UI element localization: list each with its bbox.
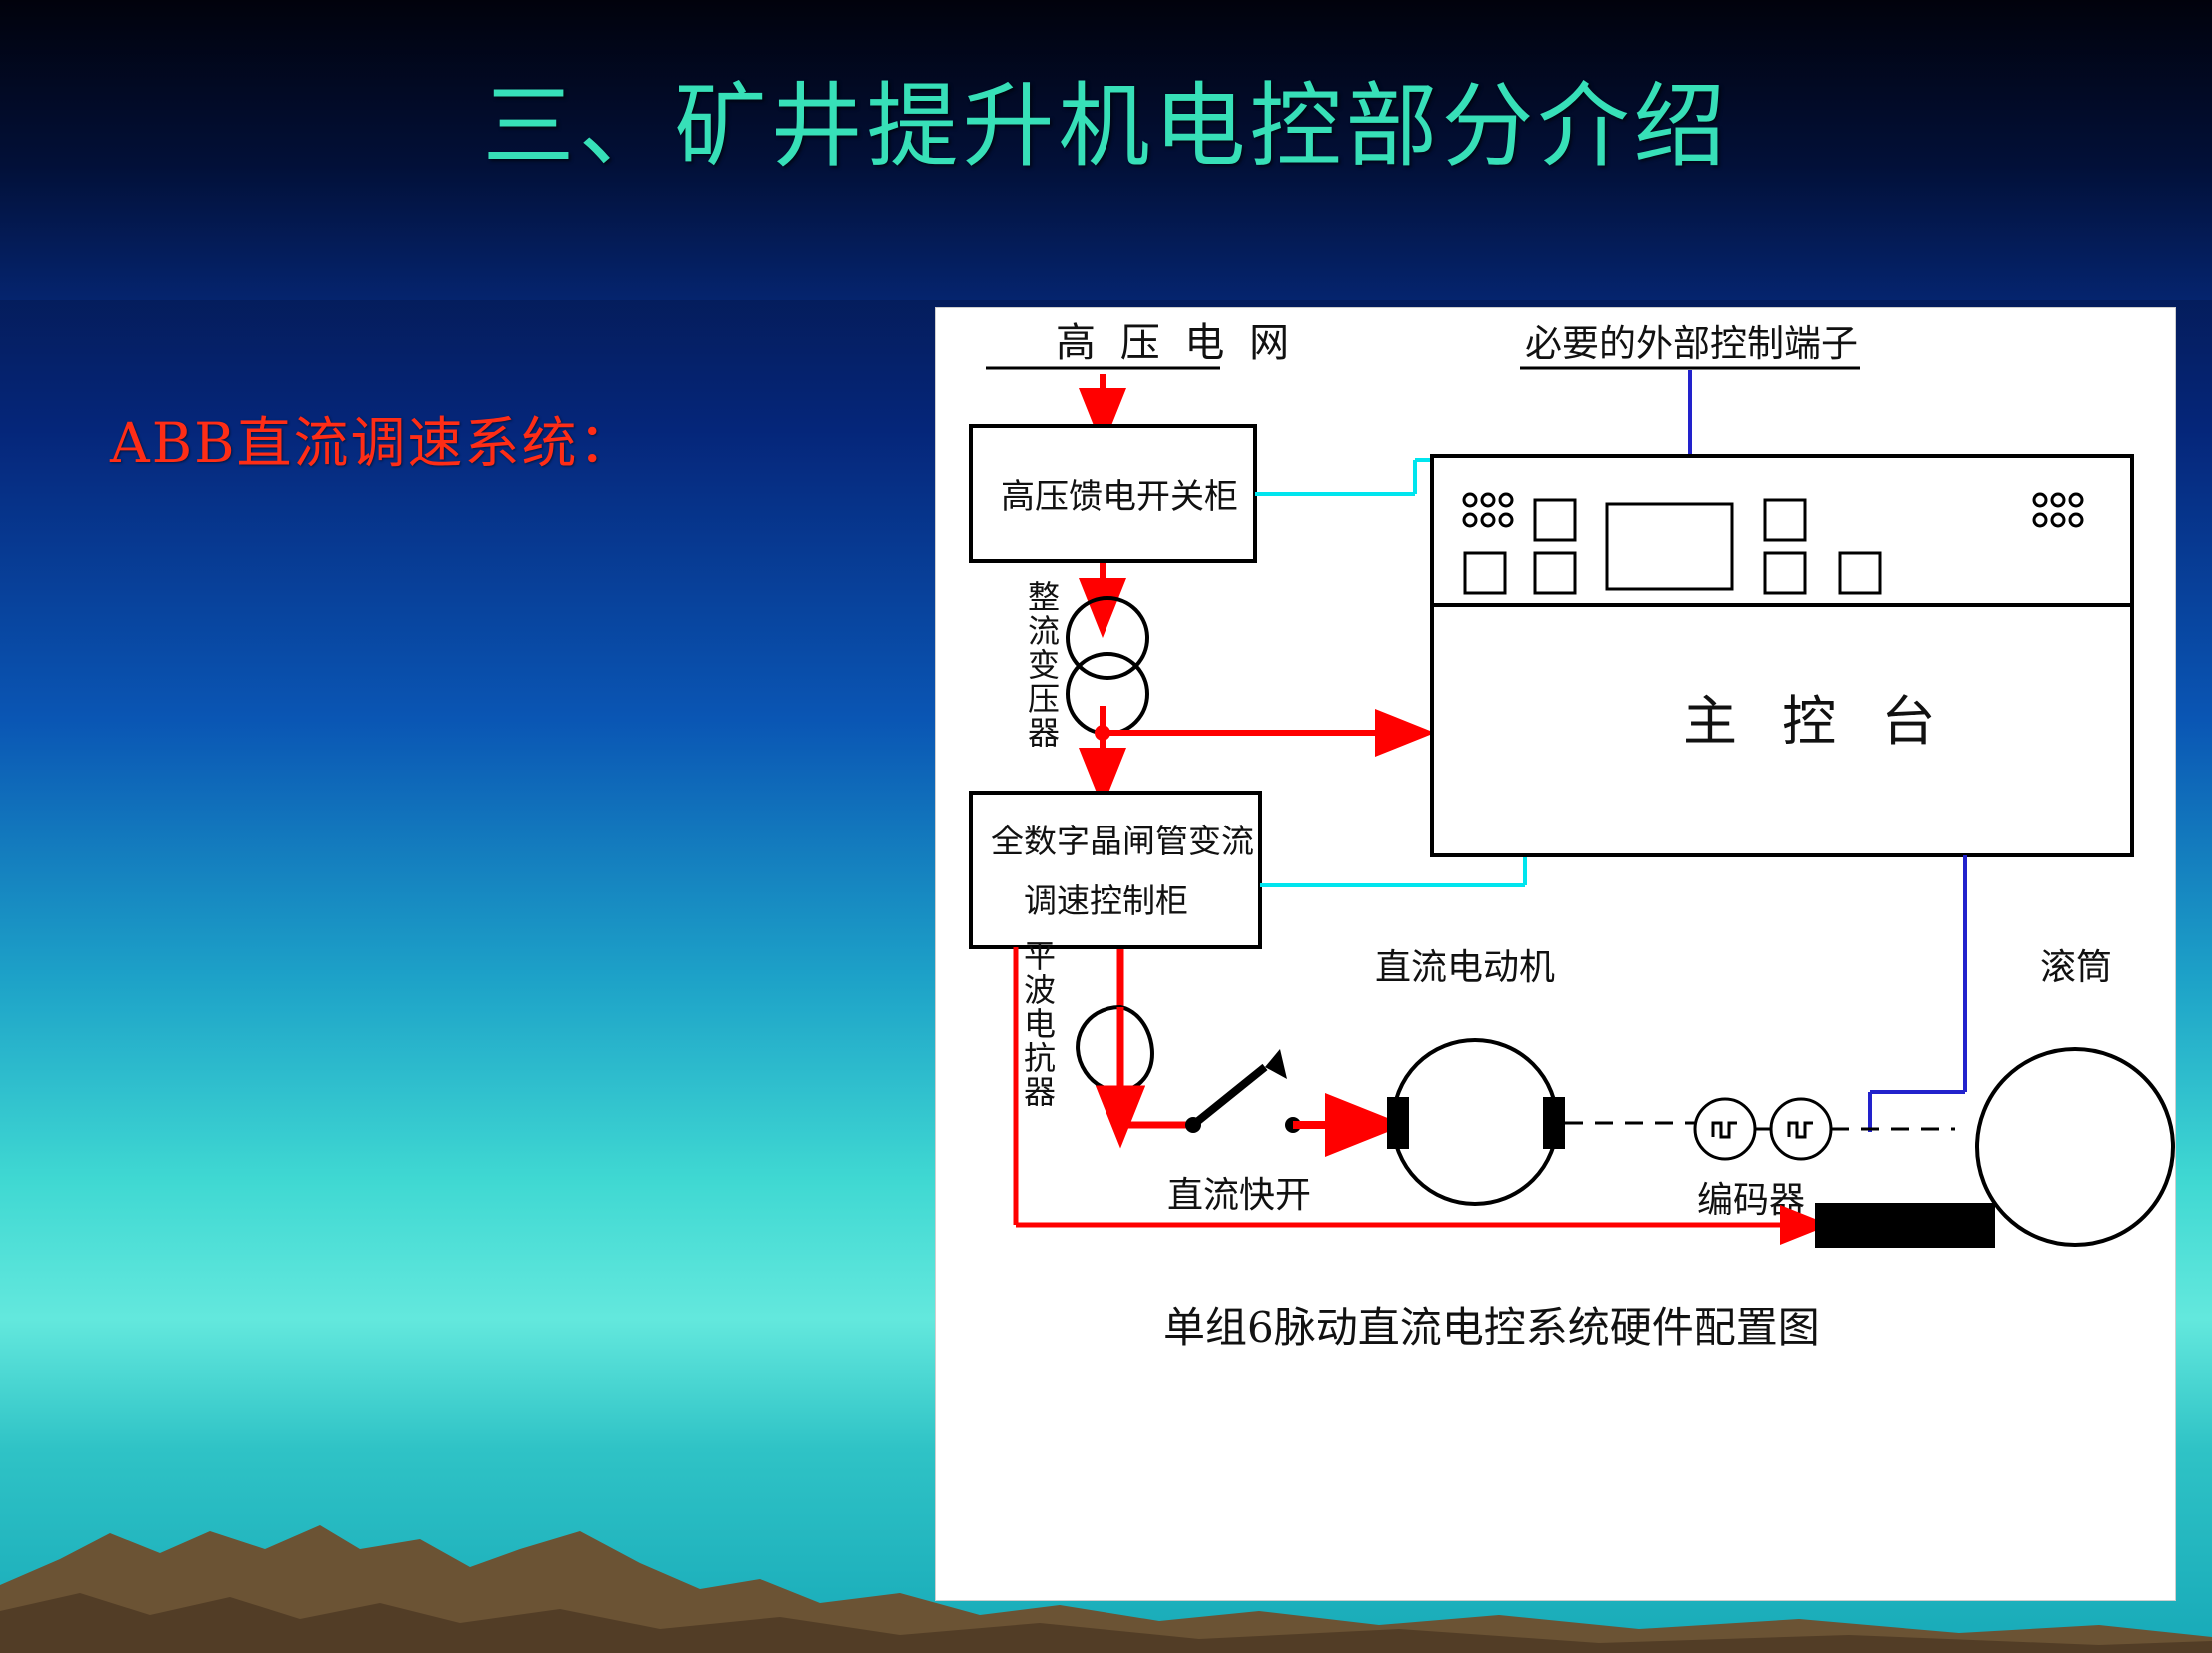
label-ext-terminals: 必要的外部控制端子 [1525, 322, 1858, 365]
label-main-console: 主 控 台 [1683, 690, 1949, 753]
label-thyristor-line1: 全数字晶闸管变流 [991, 822, 1254, 860]
subtitle-label: ABB直流调速系统： [110, 398, 636, 478]
page-title: 三、矿井提升机电控部分介绍 [0, 76, 2212, 177]
diagram-panel: 高 压 电 网 必要的外部控制端子 高压馈电开关柜 [935, 307, 2176, 1601]
label-hv-grid: 高 压 电 网 [1056, 320, 1295, 366]
label-rect-transformer: 整 流 变 压 器 [1028, 578, 1070, 752]
label-drum: 滚筒 [2040, 947, 2112, 988]
label-hv-switchgear: 高压馈电开关柜 [1001, 477, 1238, 517]
diagram-caption: 单组6脉动直流电控系统硬件配置图 [1163, 1303, 1820, 1352]
encoder-group [1695, 1099, 1831, 1159]
label-thyristor-line2: 调速控制柜 [1024, 881, 1188, 920]
label-encoder: 编码器 [1697, 1180, 1805, 1221]
label-dc-fast-switch: 直流快开 [1167, 1175, 1311, 1216]
system-diagram: 高 压 电 网 必要的外部控制端子 高压馈电开关柜 [936, 308, 2175, 1600]
label-smoothing-reactor: 平 波 电 抗 器 [1024, 937, 1066, 1111]
slide-root: 三、矿井提升机电控部分介绍 ABB直流调速系统： 高 压 电 网 必要的外部控制… [0, 0, 2212, 1653]
label-dc-motor: 直流电动机 [1375, 947, 1555, 988]
